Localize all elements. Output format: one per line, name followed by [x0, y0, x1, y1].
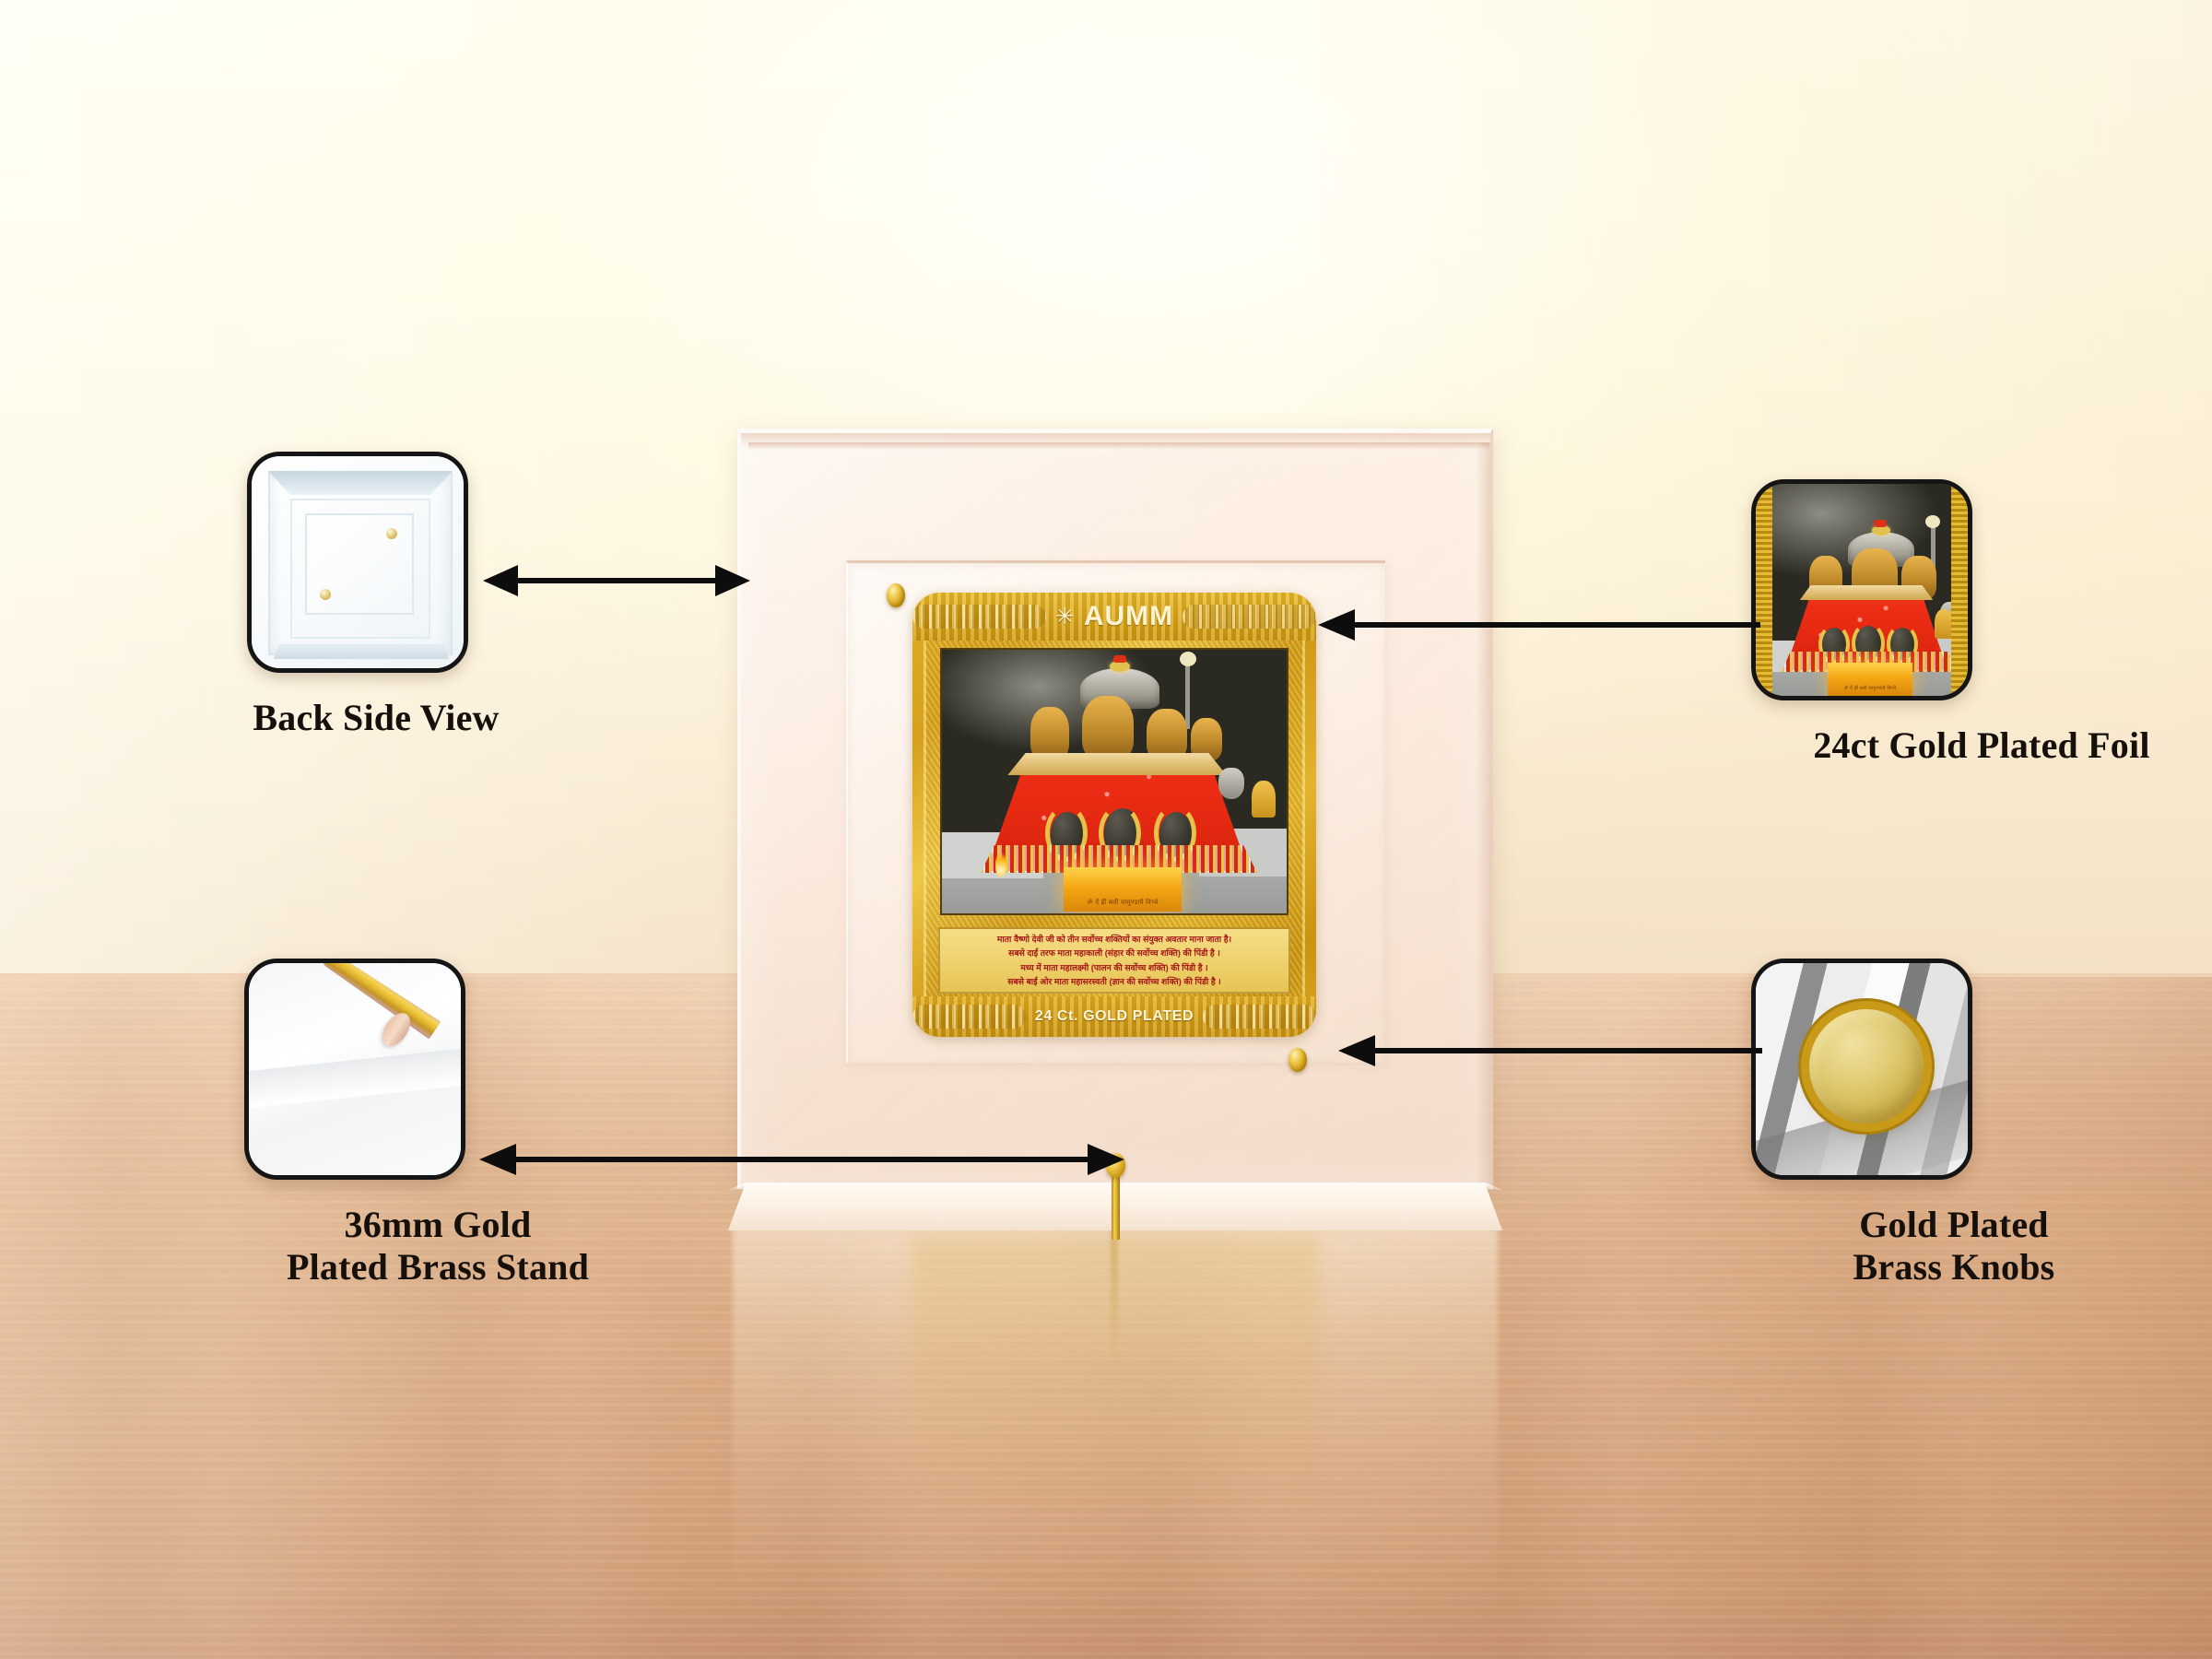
- lamp-pole: [1185, 661, 1190, 729]
- shrine-photograph: ॐ ऐं ह्रीं क्लीं चामुण्डायै विच्चे: [940, 648, 1288, 915]
- thumb-lamp-flower: [1925, 515, 1940, 528]
- canopy-red-cloth: [1113, 655, 1126, 663]
- thumb-gold-trim: [1789, 585, 1944, 600]
- arrow-back-side-view: [483, 564, 750, 597]
- golden-altar: ॐ ऐं ह्रीं क्लीं चामुण्डायै विच्चे: [1064, 867, 1182, 912]
- callout-gold-foil: ॐ ऐं ह्रीं क्लीं चामुण्डायै विच्चे 24ct …: [1751, 479, 2212, 767]
- label-brass-knobs-line1: Gold Plated: [1751, 1204, 2157, 1246]
- altar-mantra-text: ॐ ऐं ह्रीं क्लीं चामुण्डायै विच्चे: [1064, 899, 1182, 907]
- acrylic-right-bevel: [1476, 442, 1490, 1191]
- thumb-diya: [1935, 609, 1951, 639]
- altar-flame: [995, 853, 1006, 877]
- label-gold-foil: 24ct Gold Plated Foil: [1751, 724, 2212, 767]
- deity-figure-1: [1030, 707, 1069, 760]
- thumb-altar: ॐ ऐं ह्रीं क्लीं चामुण्डायै विच्चे: [1828, 663, 1912, 696]
- acrylic-photo-frame: ✳ AUMM: [737, 429, 1493, 1221]
- arrow-brass-knobs: [1338, 1034, 1762, 1067]
- brass-diya-lamp: [1252, 781, 1276, 818]
- label-brass-knobs-line2: Brass Knobs: [1751, 1246, 2157, 1288]
- thumb-canopy-cloth: [1874, 520, 1887, 527]
- back-screw-top-right: [386, 528, 397, 539]
- thumbnail-back-side-view[interactable]: [247, 452, 468, 673]
- thumbnail-gold-foil[interactable]: ॐ ऐं ह्रीं क्लीं चामुण्डायै विच्चे: [1751, 479, 1972, 700]
- label-brass-stand-line1: 36mm Gold: [244, 1204, 631, 1246]
- back-mounting-plate: [305, 513, 414, 615]
- callout-brass-knobs: Gold Plated Brass Knobs: [1751, 959, 2157, 1288]
- label-brass-stand: 36mm Gold Plated Brass Stand: [244, 1204, 631, 1288]
- label-back-side-view: Back Side View: [247, 697, 505, 739]
- deity-figure-2: [1082, 696, 1134, 760]
- back-top-bevel: [268, 471, 453, 495]
- foil-description-line-2: सबसे दाईं तरफ माता महाकाली (संहार की सर्…: [947, 947, 1282, 959]
- label-brass-stand-line2: Plated Brass Stand: [244, 1246, 631, 1288]
- back-base-ledge: [274, 644, 449, 659]
- lamp-flower: [1180, 652, 1196, 666]
- label-brass-knobs: Gold Plated Brass Knobs: [1751, 1204, 2157, 1288]
- foil-caption-ornament-right: [1203, 1005, 1316, 1029]
- aumm-logo-mark: ✳: [1055, 603, 1075, 630]
- foil-description-line-4: सबसे बाईं ओर माता महासरस्वती (ज्ञान की स…: [947, 976, 1282, 988]
- callout-brass-stand: 36mm Gold Plated Brass Stand: [244, 959, 631, 1288]
- foil-description-block: माता वैष्णो देवी जी को तीन सर्वोच्च शक्त…: [938, 927, 1290, 994]
- callout-back-side-view: Back Side View: [247, 452, 505, 739]
- foil-caption-band: 24 Ct. GOLD PLATED: [912, 996, 1316, 1037]
- foil-thumb-border-left: [1756, 484, 1772, 700]
- foil-caption-ornament-left: [912, 1005, 1026, 1029]
- thumb-altar-text: ॐ ऐं ह्रीं क्लीं चामुण्डायै विच्चे: [1828, 686, 1912, 691]
- arrow-gold-foil: [1318, 608, 1760, 641]
- foil-description-line-3: मध्य में माता महालक्ष्मी (पालन की सर्वोच…: [947, 962, 1282, 974]
- foil-ornament-right: [1182, 605, 1316, 629]
- acrylic-top-bevel: [748, 442, 1489, 450]
- foil-thumb-border-right: [1951, 484, 1968, 700]
- back-screw-bottom-left: [320, 589, 331, 600]
- shrine-gold-trim: [990, 753, 1244, 775]
- thumbnail-brass-stand[interactable]: [244, 959, 465, 1180]
- arrow-brass-stand: [479, 1143, 1124, 1176]
- gold-plated-foil: ✳ AUMM: [912, 593, 1316, 1037]
- brass-knob-top-left: [887, 583, 905, 607]
- foil-thumb-photo: ॐ ऐं ह्रीं क्लीं चामुण्डायै विच्चे: [1772, 484, 1951, 696]
- foil-description-line-1: माता वैष्णो देवी जी को तीन सर्वोच्च शक्त…: [947, 934, 1282, 946]
- gold-plated-caption: 24 Ct. GOLD PLATED: [1035, 1008, 1194, 1025]
- brass-knob-bottom-right: [1288, 1048, 1307, 1072]
- aumm-brand-text: AUMM: [1084, 601, 1173, 632]
- product-scene: ✳ AUMM: [0, 0, 2212, 1659]
- deity-figure-3: [1147, 709, 1187, 760]
- gold-plated-knob-disc: [1809, 1009, 1924, 1124]
- silver-kalash: [1218, 768, 1244, 799]
- foil-brand-band: ✳ AUMM: [912, 593, 1316, 641]
- foil-ornament-left: [912, 605, 1046, 629]
- thumbnail-brass-knob[interactable]: [1751, 959, 1972, 1180]
